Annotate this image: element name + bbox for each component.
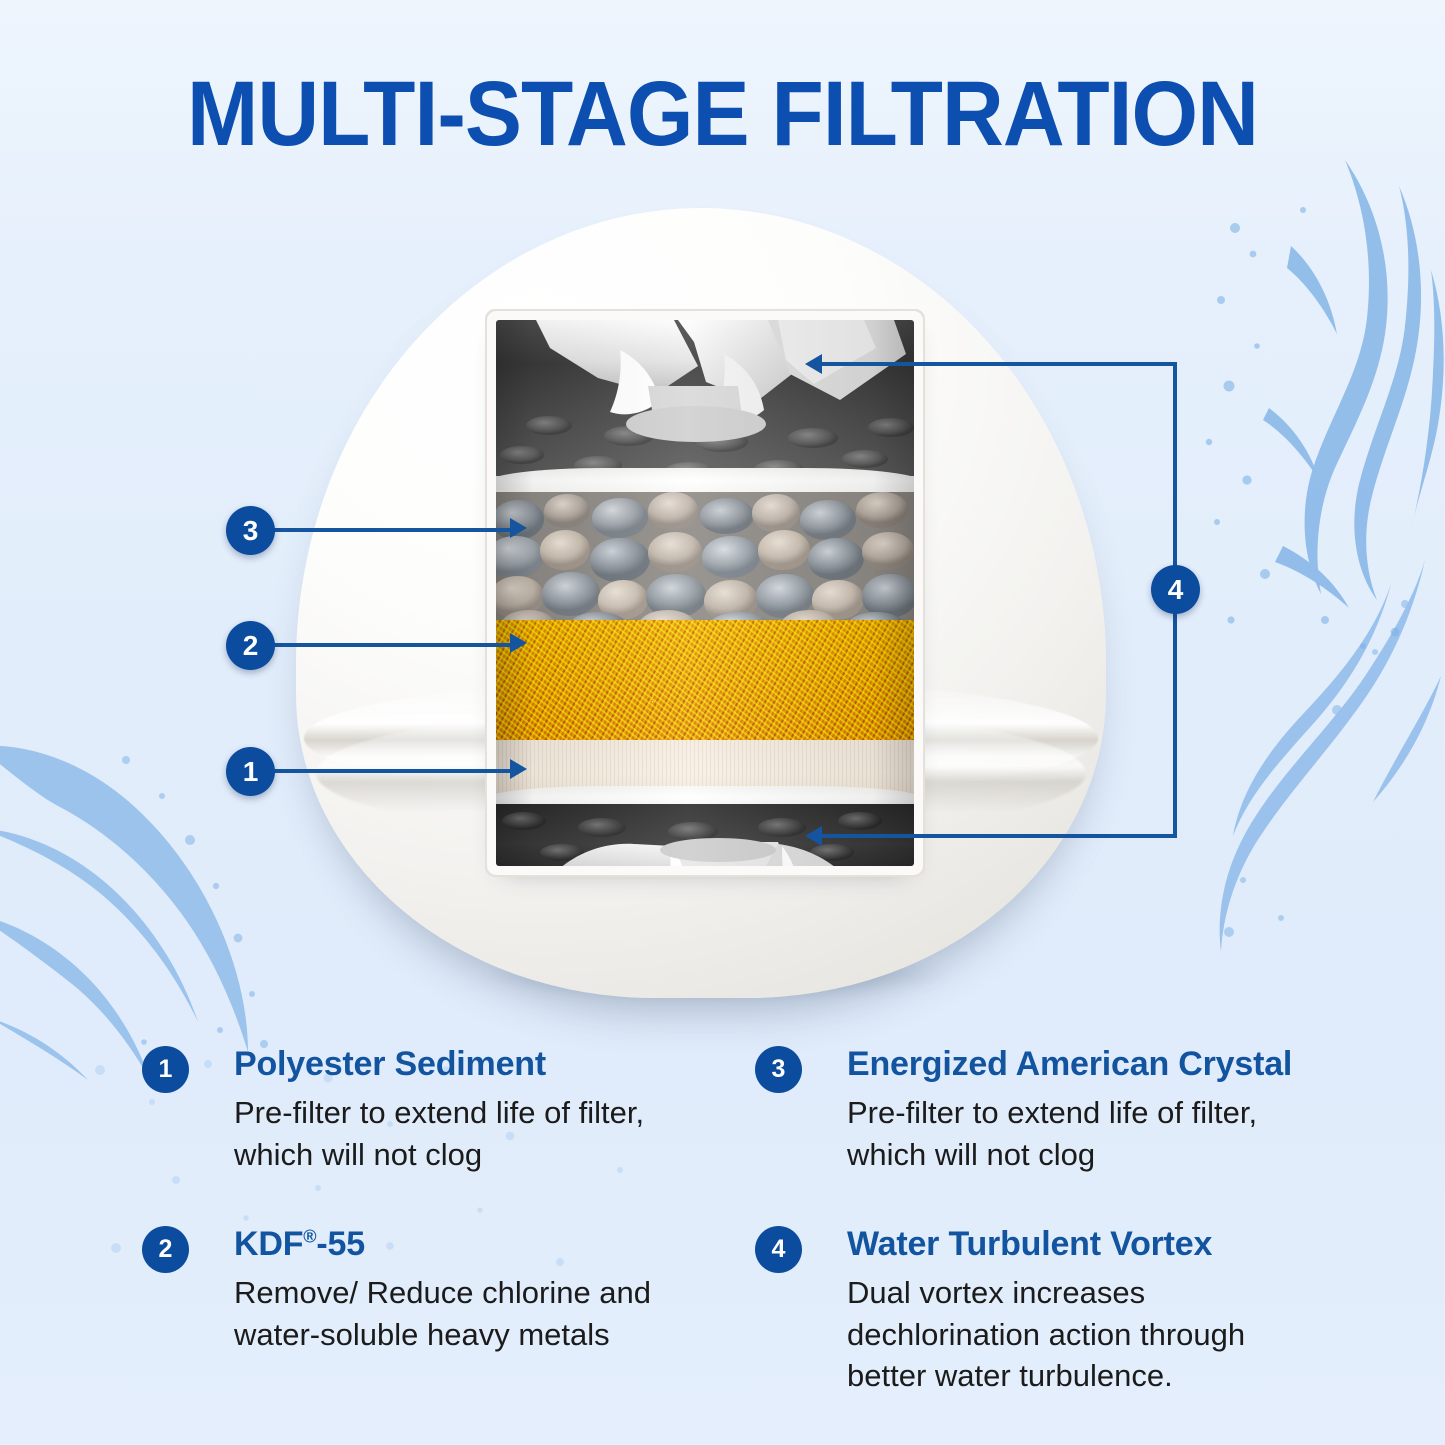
legend-badge-3: 3	[755, 1046, 802, 1093]
filter-illustration	[296, 208, 1106, 998]
kdf-55-granule-layer	[496, 620, 914, 748]
callout-arrow-3	[510, 518, 527, 538]
callout-badge-3[interactable]: 3	[226, 506, 275, 555]
legend-item-1: 1 Polyester Sediment Pre-filter to exten…	[142, 1044, 762, 1175]
page-title: MULTI-STAGE FILTRATION	[51, 62, 1395, 167]
vortex-plate-top	[496, 320, 914, 476]
callout-leader-1	[273, 769, 513, 773]
cutaway-window	[496, 320, 914, 866]
crystal-pebble-layer	[496, 492, 914, 628]
legend-heading-2: KDF®-55	[234, 1224, 762, 1264]
legend-description-1: Pre-filter to extend life of filter, whi…	[234, 1092, 704, 1175]
vortex-vane-top-right	[768, 320, 914, 420]
water-splash-right-lower	[1215, 560, 1445, 990]
water-splash-right	[1195, 150, 1445, 670]
legend-heading-1: Polyester Sediment	[234, 1044, 762, 1084]
legend-item-3: 3 Energized American Crystal Pre-filter …	[755, 1044, 1375, 1175]
legend-heading-3: Energized American Crystal	[847, 1044, 1375, 1084]
legend-badge-2: 2	[142, 1226, 189, 1273]
legend: 1 Polyester Sediment Pre-filter to exten…	[0, 1028, 1445, 1445]
callout-leader-3	[273, 528, 513, 532]
callout-leader-4-top	[822, 362, 1177, 366]
legend-description-4: Dual vortex increases dechlorination act…	[847, 1272, 1317, 1397]
registered-mark-icon: ®	[303, 1227, 316, 1247]
legend-item-4: 4 Water Turbulent Vortex Dual vortex inc…	[755, 1224, 1375, 1397]
callout-leader-4-bottom	[822, 834, 1177, 838]
callout-badge-2[interactable]: 2	[226, 621, 275, 670]
callout-badge-1[interactable]: 1	[226, 747, 275, 796]
callout-arrow-4-bottom	[805, 826, 822, 846]
legend-description-2: Remove/ Reduce chlorine and water-solubl…	[234, 1272, 704, 1355]
legend-badge-4: 4	[755, 1226, 802, 1273]
callout-arrow-2	[510, 633, 527, 653]
callout-leader-2	[273, 643, 513, 647]
legend-heading-4: Water Turbulent Vortex	[847, 1224, 1375, 1264]
legend-item-2: 2 KDF®-55 Remove/ Reduce chlorine and wa…	[142, 1224, 762, 1355]
callout-arrow-1	[510, 759, 527, 779]
callout-badge-4[interactable]: 4	[1151, 565, 1200, 614]
legend-badge-1: 1	[142, 1046, 189, 1093]
legend-description-3: Pre-filter to extend life of filter, whi…	[847, 1092, 1317, 1175]
vortex-vane-bottom	[542, 820, 872, 866]
infographic-canvas: MULTI-STAGE FILTRATION	[0, 0, 1445, 1445]
callout-arrow-4-top	[805, 354, 822, 374]
